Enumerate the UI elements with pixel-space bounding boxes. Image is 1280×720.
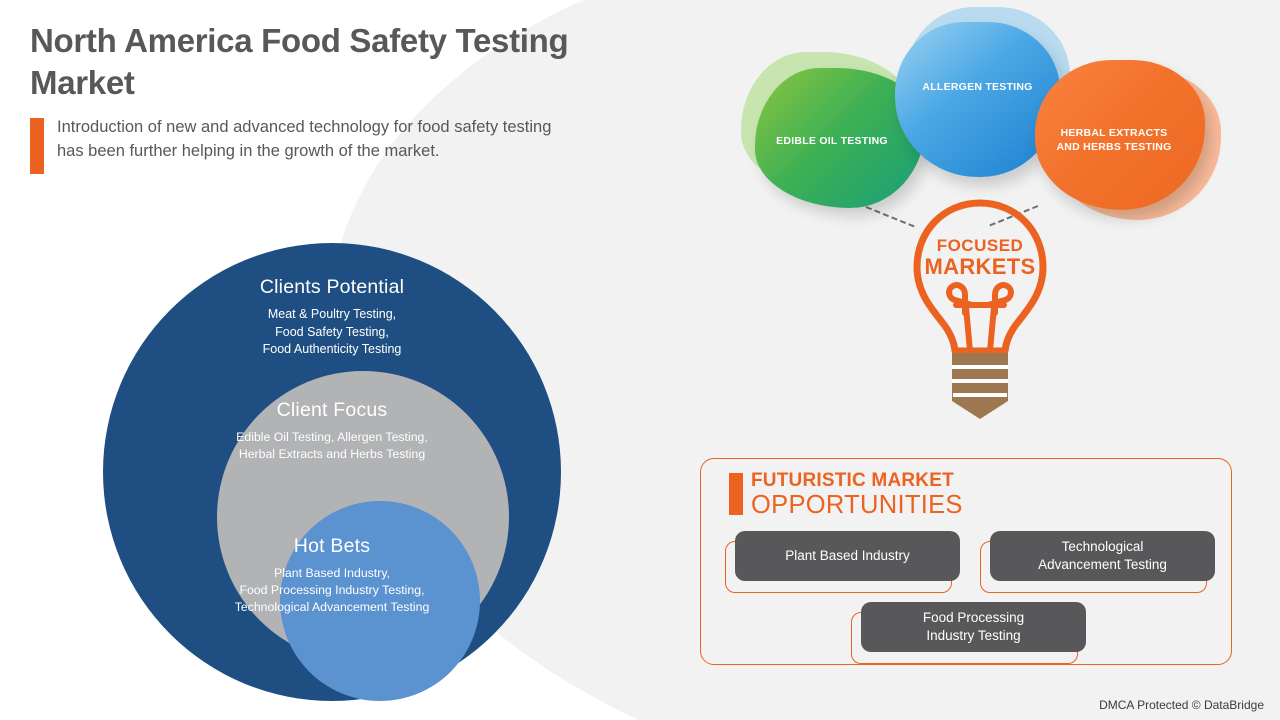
- chip-label-technological-advancement-testing: TechnologicalAdvancement Testing: [1038, 538, 1167, 574]
- petal-allergen-testing[interactable]: ALLERGEN TESTING: [895, 22, 1060, 177]
- circle-label-hot-bets: Hot Bets Plant Based Industry,Food Proce…: [103, 535, 561, 616]
- petal-label-edible-oil-testing: EDIBLE OIL TESTING: [776, 135, 888, 149]
- chip-plant-based-industry[interactable]: Plant Based Industry: [735, 531, 960, 581]
- petal-label-allergen-testing: ALLERGEN TESTING: [922, 81, 1032, 95]
- page-subtitle: Introduction of new and advanced technol…: [57, 116, 577, 164]
- futuristic-market-opportunities-panel: FUTURISTIC MARKET OPPORTUNITIES Plant Ba…: [700, 458, 1232, 665]
- panel-accent-bar-icon: [729, 473, 743, 515]
- circle-title-hot-bets: Hot Bets: [103, 535, 561, 558]
- concentric-circles-diagram: Clients Potential Meat & Poultry Testing…: [103, 243, 561, 701]
- infographic-canvas: North America Food Safety Testing Market…: [0, 0, 1280, 720]
- accent-bar-icon: [30, 118, 44, 174]
- circle-label-client-focus: Client Focus Edible Oil Testing, Allerge…: [103, 399, 561, 463]
- panel-title-group: FUTURISTIC MARKET OPPORTUNITIES: [751, 471, 963, 519]
- circle-title-clients-potential: Clients Potential: [103, 276, 561, 299]
- circle-desc-clients-potential: Meat & Poultry Testing,Food Safety Testi…: [103, 306, 561, 358]
- panel-header: FUTURISTIC MARKET OPPORTUNITIES: [729, 471, 963, 519]
- page-title: North America Food Safety Testing Market: [30, 20, 670, 104]
- chip-label-food-processing-industry-testing: Food ProcessingIndustry Testing: [923, 609, 1024, 645]
- lightbulb-focused-markets: FOCUSED MARKETS: [900, 195, 1060, 435]
- footer-copyright: DMCA Protected © DataBridge: [1099, 698, 1264, 712]
- chip-label-plant-based-industry: Plant Based Industry: [785, 547, 910, 565]
- petal-label-herbal-extracts-testing: HERBAL EXTRACTSAND HERBS TESTING: [1056, 127, 1171, 154]
- circle-title-client-focus: Client Focus: [103, 399, 561, 422]
- circle-desc-client-focus: Edible Oil Testing, Allergen Testing,Her…: [103, 429, 561, 463]
- circle-label-clients-potential: Clients Potential Meat & Poultry Testing…: [103, 276, 561, 358]
- panel-title-line2: OPPORTUNITIES: [751, 492, 963, 519]
- chip-technological-advancement-testing[interactable]: TechnologicalAdvancement Testing: [990, 531, 1215, 581]
- chip-body-2: TechnologicalAdvancement Testing: [990, 531, 1215, 581]
- panel-title-line1: FUTURISTIC MARKET: [751, 471, 963, 491]
- header: North America Food Safety Testing Market…: [30, 20, 690, 174]
- chip-body-1: Plant Based Industry: [735, 531, 960, 581]
- petal-body-blue: ALLERGEN TESTING: [895, 22, 1060, 177]
- chip-body-3: Food ProcessingIndustry Testing: [861, 602, 1086, 652]
- subtitle-row: Introduction of new and advanced technol…: [30, 116, 690, 174]
- chip-food-processing-industry-testing[interactable]: Food ProcessingIndustry Testing: [861, 602, 1086, 652]
- lightbulb-icon: [900, 195, 1060, 435]
- circle-desc-hot-bets: Plant Based Industry,Food Processing Ind…: [103, 565, 561, 616]
- petal-herbal-extracts-testing[interactable]: HERBAL EXTRACTSAND HERBS TESTING: [1035, 60, 1205, 210]
